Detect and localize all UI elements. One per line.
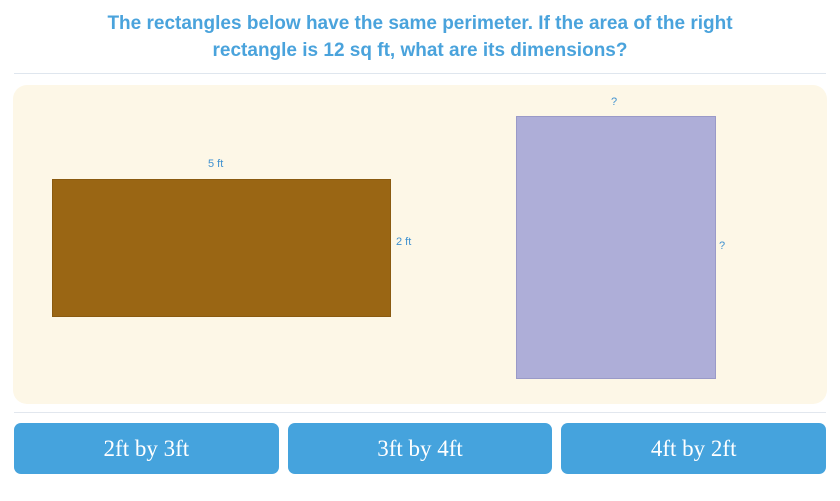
answer-option-3[interactable]: 4ft by 2ft [561, 423, 826, 474]
left-rectangle-width-label: 5 ft [208, 158, 223, 170]
left-rectangle-height-label: 2 ft [396, 236, 411, 248]
answers-divider [14, 412, 826, 413]
question-header: The rectangles below have the same perim… [0, 0, 840, 73]
header-divider [14, 73, 826, 74]
right-rectangle [516, 116, 716, 379]
answer-choices: 2ft by 3ft 3ft by 4ft 4ft by 2ft [14, 423, 826, 474]
answer-option-2[interactable]: 3ft by 4ft [288, 423, 553, 474]
left-rectangle [52, 179, 391, 317]
answer-option-1[interactable]: 2ft by 3ft [14, 423, 279, 474]
right-rectangle-height-label: ? [719, 240, 725, 252]
question-text: The rectangles below have the same perim… [70, 10, 770, 64]
right-rectangle-width-label: ? [611, 96, 617, 108]
